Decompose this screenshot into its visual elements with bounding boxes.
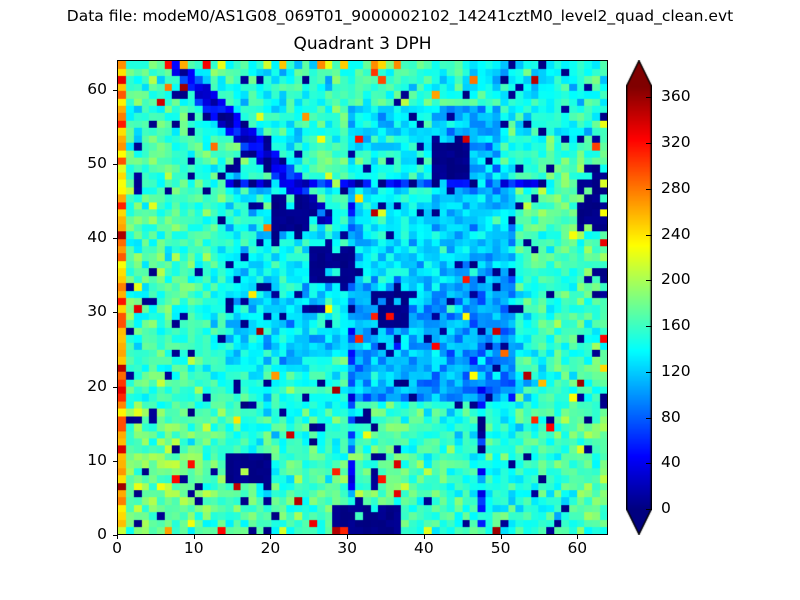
x-axis-tick-label: 40: [394, 539, 454, 557]
colorbar-tick: [646, 463, 652, 464]
page-title: Quadrant 3 DPH: [117, 34, 608, 54]
y-axis-tick-label: 20: [59, 377, 107, 395]
y-axis-tick: [113, 164, 117, 165]
colorbar-tick-label: 160: [661, 316, 691, 334]
colorbar-tick: [646, 418, 652, 419]
x-axis-tick-label: 30: [317, 539, 377, 557]
colorbar-tick: [646, 509, 652, 510]
x-axis-tick-label: 60: [547, 539, 607, 557]
colorbar-tick-label: 120: [661, 362, 691, 380]
colorbar-tick: [646, 280, 652, 281]
y-axis-tick-label: 0: [59, 525, 107, 543]
y-axis-tick: [113, 535, 117, 536]
y-axis-tick: [113, 461, 117, 462]
colorbar-tick: [646, 372, 652, 373]
x-axis-tick-label: 20: [240, 539, 300, 557]
colorbar-tick-label: 80: [661, 408, 681, 426]
colorbar-tick-label: 240: [661, 225, 691, 243]
y-axis-tick-label: 60: [59, 80, 107, 98]
dph-heatmap-axes[interactable]: [117, 60, 608, 535]
colorbar-tick: [646, 235, 652, 236]
colorbar-tick-label: 40: [661, 453, 681, 471]
y-axis-tick: [113, 312, 117, 313]
x-axis-tick-label: 50: [471, 539, 531, 557]
dph-heatmap-image[interactable]: [118, 61, 607, 534]
x-axis-tick-label: 10: [164, 539, 224, 557]
colorbar-tick: [646, 189, 652, 190]
y-axis-tick: [113, 90, 117, 91]
y-axis-tick-label: 40: [59, 228, 107, 246]
figure-canvas: Data file: modeM0/AS1G08_069T01_90000021…: [0, 0, 800, 600]
colorbar-tick-label: 200: [661, 270, 691, 288]
colorbar-tick-label: 320: [661, 133, 691, 151]
y-axis-tick-label: 10: [59, 451, 107, 469]
colorbar-tick-label: 0: [661, 499, 671, 517]
y-axis-tick-label: 30: [59, 302, 107, 320]
y-axis-tick: [113, 387, 117, 388]
y-axis-tick: [113, 238, 117, 239]
y-axis-tick-label: 50: [59, 154, 107, 172]
colorbar-tick-label: 280: [661, 179, 691, 197]
data-file-suptitle: Data file: modeM0/AS1G08_069T01_90000021…: [0, 7, 800, 25]
colorbar-tick-label: 360: [661, 87, 691, 105]
colorbar-tick: [646, 97, 652, 98]
colorbar-tick: [646, 143, 652, 144]
colorbar-tick: [646, 326, 652, 327]
